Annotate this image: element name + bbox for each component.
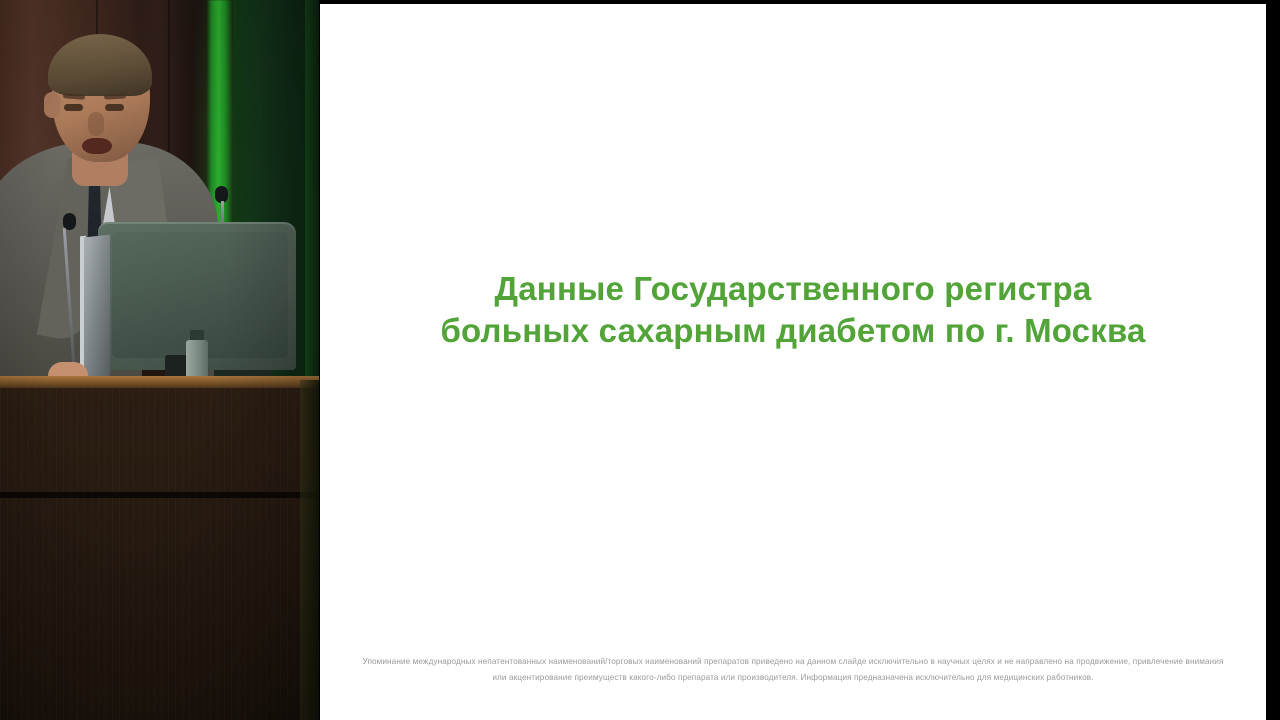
mouth: [82, 138, 112, 154]
presentation-slide[interactable]: Данные Государственного регистра больных…: [320, 0, 1266, 720]
nose: [88, 112, 104, 136]
ear: [44, 92, 60, 118]
right-letterbox-band: [1266, 0, 1280, 720]
slide-title: Данные Государственного регистра больных…: [320, 268, 1266, 352]
slide-top-border: [320, 0, 1266, 4]
hair: [48, 34, 152, 96]
slide-disclaimer: Упоминание международных непатентованных…: [360, 654, 1226, 686]
green-backdrop-edge: [305, 0, 319, 392]
podium-front-panel: [0, 388, 319, 720]
eye-left: [64, 104, 83, 111]
laptop: [84, 235, 110, 384]
podium-groove: [0, 492, 319, 498]
podium-side-edge: [300, 380, 319, 720]
screen-root: Данные Государственного регистра больных…: [0, 0, 1280, 720]
conference-speaker-video[interactable]: [0, 0, 319, 720]
eye-right: [105, 104, 124, 111]
